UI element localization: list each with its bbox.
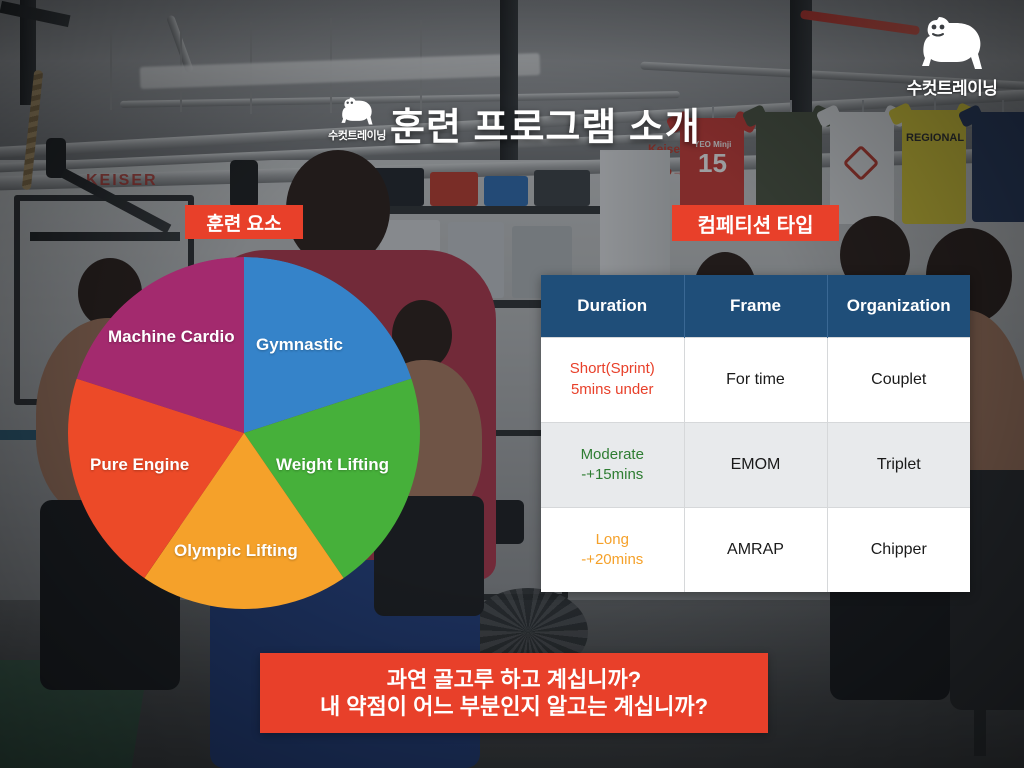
banner-line-1: 과연 골고루 하고 계십니까? bbox=[387, 666, 641, 694]
cell-duration: Short(Sprint) 5mins under bbox=[541, 337, 684, 422]
column-header-organization: Organization bbox=[827, 275, 970, 337]
table-row: Moderate -+15mins EMOM Triplet bbox=[541, 422, 970, 507]
cell-duration: Long -+20mins bbox=[541, 508, 684, 592]
duration-line-2: 5mins under bbox=[541, 380, 684, 400]
duration-line-1: Moderate bbox=[541, 445, 684, 465]
duration-line-1: Short(Sprint) bbox=[541, 359, 684, 379]
brand-logo-main: 수컷트레이닝 bbox=[890, 14, 1014, 99]
table-header-row: Duration Frame Organization bbox=[541, 275, 970, 337]
pie-label-pure-engine: Pure Engine bbox=[90, 455, 189, 475]
badge-training-elements: 훈련 요소 bbox=[185, 205, 303, 239]
page-title: 훈련 프로그램 소개 bbox=[390, 96, 701, 151]
cell-organization: Chipper bbox=[827, 508, 970, 592]
cell-frame: For time bbox=[684, 337, 827, 422]
table-row: Long -+20mins AMRAP Chipper bbox=[541, 508, 970, 592]
brand-name-text: 수컷트레이닝 bbox=[322, 127, 392, 143]
cell-frame: AMRAP bbox=[684, 508, 827, 592]
column-header-frame: Frame bbox=[684, 275, 827, 337]
duration-line-2: -+15mins bbox=[541, 465, 684, 485]
cell-frame: EMOM bbox=[684, 422, 827, 507]
banner-line-2: 내 약점이 어느 부분인지 알고는 계십니까? bbox=[320, 693, 708, 721]
training-elements-pie-chart: Gymnastic Weight Lifting Olympic Lifting… bbox=[68, 257, 420, 609]
cell-duration: Moderate -+15mins bbox=[541, 422, 684, 507]
brand-name-text: 수컷트레이닝 bbox=[890, 74, 1014, 99]
duration-line-2: -+20mins bbox=[541, 550, 684, 570]
badge-competition-type: 컴페티션 타입 bbox=[672, 205, 839, 241]
gorilla-logo-icon bbox=[913, 14, 991, 72]
gorilla-logo-icon bbox=[335, 96, 379, 126]
cell-organization: Triplet bbox=[827, 422, 970, 507]
cell-organization: Couplet bbox=[827, 337, 970, 422]
pie-label-olympic-lifting: Olympic Lifting bbox=[174, 541, 298, 561]
column-header-duration: Duration bbox=[541, 275, 684, 337]
brand-logo-inline: 수컷트레이닝 bbox=[322, 96, 392, 143]
pie-label-weight-lifting: Weight Lifting bbox=[276, 455, 389, 475]
slide-stage: KEISER ←Keiser Cardio→ YEO Minji 15 REGI… bbox=[0, 0, 1024, 768]
table-row: Short(Sprint) 5mins under For time Coupl… bbox=[541, 337, 970, 422]
pie-label-gymnastic: Gymnastic bbox=[256, 335, 343, 355]
competition-type-table: Duration Frame Organization Short(Sprint… bbox=[541, 275, 970, 592]
bottom-callout-banner: 과연 골고루 하고 계십니까? 내 약점이 어느 부분인지 알고는 계십니까? bbox=[260, 653, 768, 733]
pie-label-machine-cardio: Machine Cardio bbox=[108, 327, 235, 347]
duration-line-1: Long bbox=[541, 530, 684, 550]
